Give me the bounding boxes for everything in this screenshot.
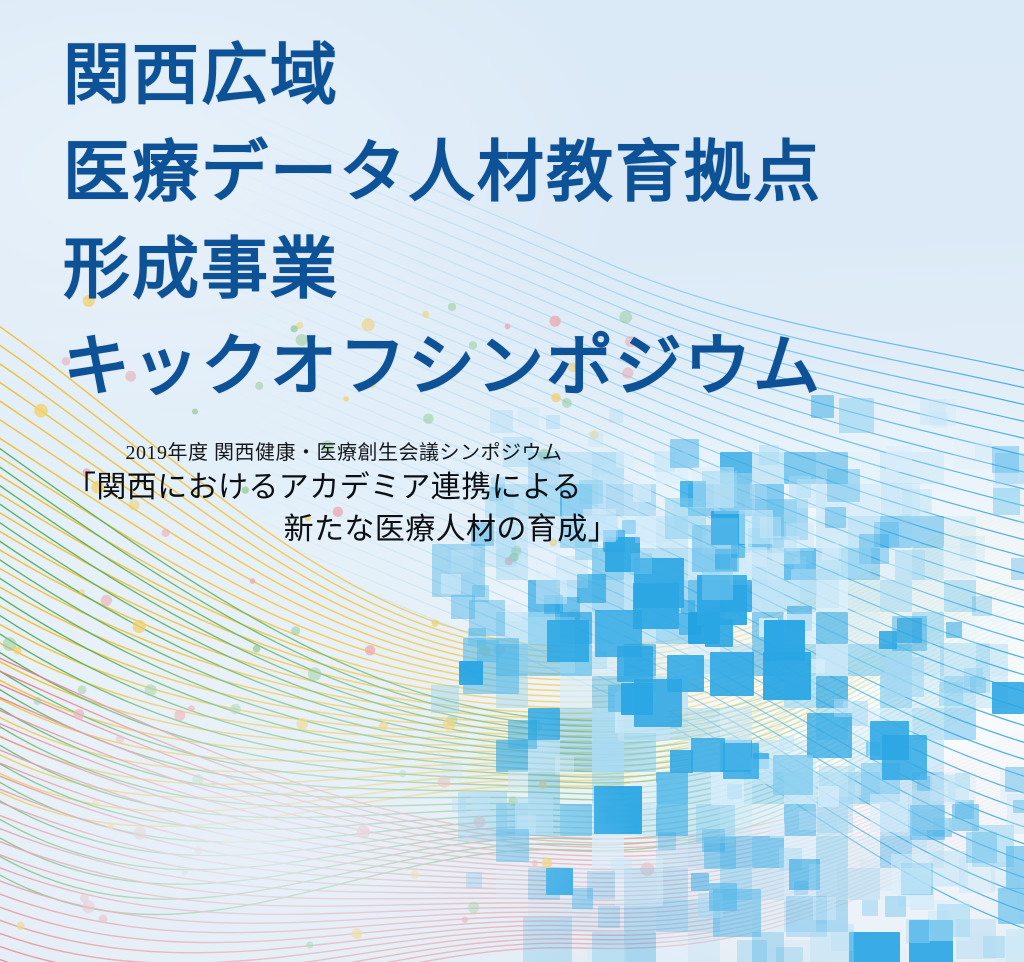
mosaic-square	[560, 804, 592, 836]
mosaic-square	[939, 682, 963, 706]
mosaic-square	[670, 750, 693, 773]
mosaic-square	[779, 940, 810, 962]
mosaic-square	[759, 445, 779, 465]
mosaic-square	[598, 906, 620, 928]
mosaic-square	[827, 469, 860, 502]
mosaic-square	[891, 854, 931, 894]
mosaic-square	[937, 904, 970, 937]
mosaic-square	[772, 536, 800, 564]
mosaic-square	[807, 713, 852, 758]
mosaic-square	[466, 872, 482, 888]
title-line-4: キックオフシンポジウム	[63, 319, 963, 416]
mosaic-square	[506, 605, 522, 621]
mosaic-square	[665, 498, 706, 539]
mosaic-square	[764, 620, 805, 661]
subtitle-block: 2019年度 関西健康・医療創生会議シンポジウム 「関西におけるアカデミア連携に…	[64, 440, 624, 551]
mosaic-square	[992, 446, 1019, 473]
mosaic-square	[813, 897, 836, 920]
mosaic-square	[747, 547, 767, 567]
mosaic-square	[886, 446, 912, 472]
mosaic-square	[919, 499, 931, 511]
mosaic-square	[458, 792, 507, 841]
mosaic-square	[860, 859, 892, 891]
mosaic-square	[714, 473, 755, 514]
mosaic-square	[779, 736, 794, 751]
title-line-3: 形成事業	[63, 222, 963, 319]
mosaic-square	[897, 618, 922, 643]
mosaic-square	[773, 755, 813, 795]
mosaic-square	[723, 743, 759, 779]
mosaic-square	[817, 813, 837, 833]
mosaic-square	[622, 520, 636, 534]
mosaic-square	[811, 659, 825, 673]
mosaic-square	[849, 932, 900, 962]
mosaic-square	[691, 873, 709, 891]
mosaic-square	[885, 896, 906, 917]
mosaic-square	[992, 682, 1024, 714]
mosaic-square	[441, 760, 462, 781]
mosaic-square	[592, 740, 624, 772]
mosaic-square	[809, 864, 837, 892]
mosaic-square	[848, 580, 880, 612]
mosaic-square	[964, 668, 983, 687]
title-line-1: 関西広域	[63, 28, 963, 125]
mosaic-square	[477, 640, 499, 662]
mosaic-square	[912, 452, 944, 484]
mosaic-square	[560, 676, 592, 708]
mosaic-square	[656, 772, 688, 804]
mosaic-square	[818, 786, 839, 807]
mosaic-square	[508, 770, 528, 790]
page-title: 関西広域 医療データ人材教育拠点 形成事業 キックオフシンポジウム	[63, 28, 963, 416]
mosaic-square	[991, 862, 1020, 891]
mosaic-square	[944, 708, 976, 740]
mosaic-square	[560, 708, 592, 740]
subtitle-theme-line-1: 「関西におけるアカデミア連携による	[64, 467, 624, 509]
mosaic-square	[546, 868, 573, 895]
mosaic-square	[874, 522, 899, 547]
mosaic-square	[841, 548, 871, 578]
mosaic-square	[848, 644, 880, 676]
mosaic-square	[909, 830, 927, 848]
mosaic-square	[862, 900, 878, 916]
subtitle-eyebrow: 2019年度 関西健康・医療創生会議シンポジウム	[64, 440, 624, 467]
subtitle-theme-line-2: 新たな医療人材の育成」	[64, 509, 624, 551]
mosaic-square	[1013, 800, 1024, 813]
mosaic-square	[654, 451, 675, 472]
mosaic-square	[587, 871, 615, 899]
mosaic-square	[816, 612, 848, 644]
mosaic-square	[705, 619, 733, 647]
mosaic-square	[831, 929, 853, 951]
mosaic-square	[983, 936, 1005, 958]
mosaic-square	[621, 683, 653, 715]
mosaic-square	[710, 652, 754, 696]
mosaic-square	[998, 888, 1024, 924]
mosaic-square	[441, 574, 461, 594]
mosaic-square	[800, 552, 812, 564]
mosaic-square	[960, 536, 985, 561]
mosaic-square	[800, 569, 839, 608]
mosaic-square	[879, 631, 897, 649]
mosaic-square	[508, 720, 537, 749]
mosaic-square	[431, 685, 459, 713]
mosaic-square	[1006, 929, 1024, 962]
mosaic-square	[898, 514, 912, 528]
mosaic-square	[658, 832, 676, 850]
mosaic-square	[667, 655, 704, 692]
mosaic-square	[946, 622, 962, 638]
mosaic-square	[1011, 558, 1024, 580]
mosaic-square	[952, 804, 979, 831]
mosaic-square	[929, 851, 965, 887]
mosaic-square	[829, 770, 844, 785]
mosaic-square	[895, 550, 925, 580]
mosaic-square	[594, 786, 642, 834]
mosaic-square	[906, 919, 930, 943]
mosaic-square	[496, 868, 528, 900]
title-line-2: 医療データ人材教育拠点	[63, 125, 963, 222]
mosaic-square	[789, 476, 811, 498]
mosaic-square	[993, 472, 1018, 497]
mosaic-square	[702, 518, 738, 554]
mosaic-square	[624, 740, 656, 772]
mosaic-square	[848, 612, 880, 644]
mosaic-square	[631, 553, 652, 574]
symposium-poster: 関西広域 医療データ人材教育拠点 形成事業 キックオフシンポジウム 2019年度…	[0, 0, 1024, 962]
mosaic-square	[976, 612, 1008, 644]
mosaic-square	[656, 932, 688, 962]
mosaic-square	[555, 756, 574, 775]
mosaic-square	[972, 596, 992, 616]
mosaic-square	[702, 569, 733, 600]
mosaic-square	[737, 940, 767, 962]
mosaic-square	[547, 620, 589, 662]
mosaic-square	[595, 610, 642, 657]
mosaic-square	[870, 794, 908, 832]
mosaic-square	[825, 507, 846, 528]
mosaic-square	[870, 721, 909, 760]
mosaic-square	[739, 510, 773, 544]
mosaic-square	[930, 775, 956, 801]
mosaic-square	[954, 432, 991, 469]
mosaic-square	[801, 911, 813, 923]
mosaic-square	[587, 944, 626, 962]
mosaic-square	[696, 804, 735, 843]
mosaic-square	[546, 415, 560, 429]
mosaic-square	[688, 708, 720, 740]
mosaic-square	[896, 670, 910, 684]
mosaic-square	[709, 883, 737, 911]
mosaic-square	[834, 699, 852, 717]
mosaic-square	[822, 543, 839, 560]
mosaic-square	[459, 661, 483, 685]
mosaic-square	[451, 595, 475, 619]
mosaic-square	[880, 580, 912, 612]
mosaic-square	[799, 811, 818, 830]
mosaic-square	[691, 738, 725, 772]
mosaic-square	[720, 708, 752, 740]
mosaic-square	[635, 510, 668, 543]
mosaic-square	[536, 573, 567, 604]
mosaic-square	[523, 917, 572, 962]
mosaic-square	[624, 932, 656, 962]
mosaic-square	[770, 823, 785, 838]
